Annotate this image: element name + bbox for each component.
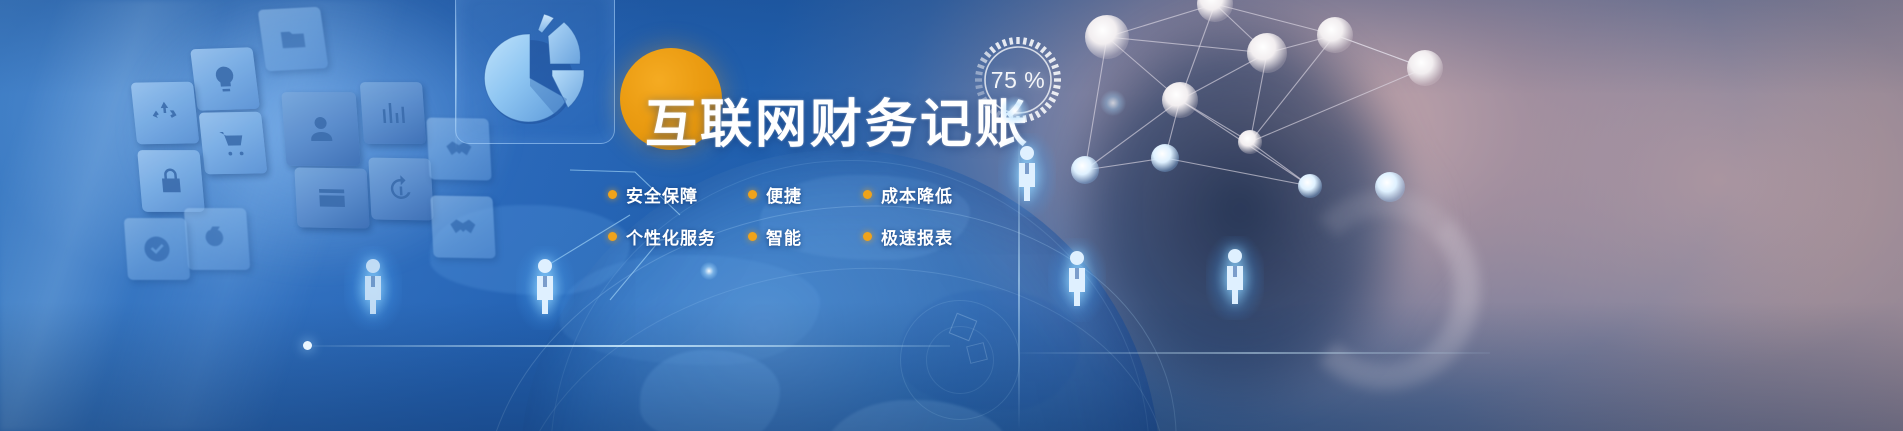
vertical-divider: [455, 0, 457, 150]
bullet-dot-icon: [748, 232, 757, 241]
person-pictogram: [1064, 250, 1090, 308]
person-pictogram: [532, 258, 558, 316]
person-icon: [281, 92, 360, 166]
marketing-banner: 互联网财务记账 安全保障 便捷 成本降低 个性化服务: [0, 0, 1903, 431]
network-node: [1071, 156, 1099, 184]
bullet-dot-icon: [863, 232, 872, 241]
pie-chart: [468, 4, 608, 139]
feature-row-2: 个性化服务 智能 极速报表: [608, 224, 1028, 249]
network-diagram: [1045, 0, 1605, 200]
gauge-glow-point: [1000, 96, 1030, 126]
bullet-dot-icon: [863, 190, 872, 199]
network-node: [1407, 50, 1443, 86]
feature-row-1: 安全保障 便捷 成本降低: [608, 182, 1028, 207]
feature-item-cost-reduction: 成本降低: [863, 182, 953, 207]
bullet-dot-icon: [748, 190, 757, 199]
refresh-dollar-icon: [368, 158, 433, 221]
bottom-rail: [1020, 352, 1490, 354]
network-node: [1238, 130, 1262, 154]
money-bag-icon: [184, 208, 250, 270]
feature-label: 智能: [766, 224, 802, 249]
feature-item-fast-reports: 极速报表: [863, 224, 953, 249]
vertical-divider: [1018, 130, 1020, 430]
light-spark: [700, 262, 718, 280]
credit-card-dollar-icon: [294, 167, 369, 228]
bullet-dot-icon: [608, 232, 617, 241]
network-node: [1375, 172, 1405, 202]
rail-endpoint-dot: [303, 341, 312, 350]
light-spark: [1100, 90, 1126, 116]
feature-item-security: 安全保障: [608, 182, 748, 207]
feature-list: 安全保障 便捷 成本降低 个性化服务 智能 极速报表: [608, 182, 1028, 266]
feature-label: 便捷: [766, 182, 802, 207]
bar-chart-icon: [360, 82, 426, 144]
bottom-rail: [310, 345, 950, 347]
feature-label: 成本降低: [881, 182, 953, 207]
network-node: [1317, 17, 1353, 53]
feature-label: 安全保障: [626, 182, 698, 207]
shopping-cart-icon: [199, 112, 268, 175]
recycle-icon: [131, 82, 200, 145]
check-circle-icon: [124, 218, 190, 280]
feature-item-intelligent: 智能: [748, 224, 863, 249]
bullet-dot-icon: [608, 190, 617, 199]
network-node: [1162, 82, 1198, 118]
network-node: [1247, 33, 1287, 73]
folder-icon: [258, 7, 329, 72]
lock-icon: [137, 150, 205, 212]
person-pictogram: [1222, 248, 1248, 306]
network-node: [1298, 174, 1322, 198]
person-pictogram: [360, 258, 386, 316]
handshake-icon: [430, 196, 495, 259]
feature-item-convenient: 便捷: [748, 182, 863, 207]
feature-label: 个性化服务: [626, 224, 716, 249]
network-node: [1085, 15, 1129, 59]
feature-label: 极速报表: [881, 224, 953, 249]
lightbulb-icon: [190, 47, 260, 111]
feature-item-personalized-service: 个性化服务: [608, 224, 748, 249]
icon-cube-stack: [150, 0, 480, 240]
network-node: [1151, 144, 1179, 172]
